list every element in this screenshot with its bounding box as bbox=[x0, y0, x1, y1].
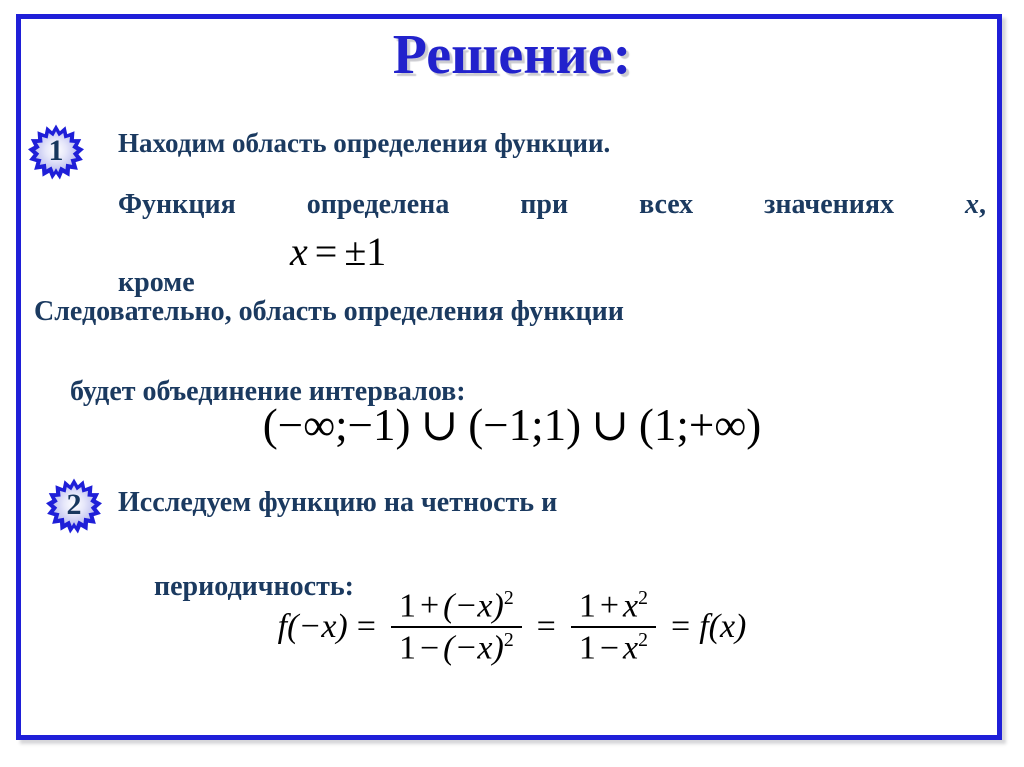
exponent: 2 bbox=[638, 587, 648, 609]
variable-x: x bbox=[623, 587, 638, 624]
step-1-conclusion: Следовательно, область определения функц… bbox=[34, 292, 986, 412]
equals-1: = bbox=[348, 608, 385, 646]
function-argument-lhs: (−x) bbox=[287, 608, 348, 646]
step-1-paragraph-text: Функция определена при всех значениях bbox=[118, 189, 894, 220]
group-minus-x: (−x) bbox=[443, 587, 504, 624]
step-1-paragraph: Функция определена при всех значениях x,… bbox=[118, 186, 986, 302]
fraction-2-denominator: 1−x2 bbox=[571, 628, 656, 668]
equals-2: = bbox=[528, 608, 565, 646]
heading-word-4: четность bbox=[421, 487, 534, 518]
formula-rhs: ±1 bbox=[344, 229, 386, 274]
group-minus-x: (−x) bbox=[443, 630, 504, 667]
step-1-heading: Находим область определения функции. bbox=[118, 126, 978, 160]
minus-sign: − bbox=[596, 630, 623, 667]
exponent: 2 bbox=[504, 629, 514, 651]
equals-3: = bbox=[662, 608, 699, 646]
interval-1: (−∞;−1) bbox=[263, 400, 411, 450]
minus-sign: − bbox=[416, 630, 443, 667]
formula-domain-intervals: (−∞;−1)∪(−1;1)∪(1;+∞) bbox=[0, 398, 1024, 451]
num-one: 1 bbox=[579, 587, 596, 624]
num-one: 1 bbox=[399, 630, 416, 667]
step-1-paragraph-line-1: Функция определена при всех значениях x, bbox=[118, 186, 986, 262]
heading-word-1: Исследуем bbox=[118, 487, 251, 518]
formula-row: f(−x) = 1+(−x)2 1−(−x)2 = 1+x2 1−x2 = f(… bbox=[278, 586, 747, 669]
step-badge-1-number: 1 bbox=[28, 124, 84, 180]
slide-canvas: Решение: 1 Находим область определения ф… bbox=[0, 0, 1024, 767]
interval-3: (1;+∞) bbox=[639, 400, 761, 450]
variable-x: x bbox=[965, 189, 979, 220]
num-one: 1 bbox=[579, 630, 596, 667]
page-title: Решение: bbox=[0, 26, 1024, 85]
heading-word-3: на bbox=[384, 487, 414, 518]
function-symbol-rhs: f bbox=[699, 608, 708, 646]
step-1-conclusion-line-1: Следовательно, область определения функц… bbox=[34, 292, 986, 372]
plus-sign: + bbox=[596, 587, 623, 624]
exponent: 2 bbox=[638, 629, 648, 651]
comma: , bbox=[979, 189, 986, 220]
formula-relation: = bbox=[308, 229, 345, 274]
step-badge-2-number: 2 bbox=[46, 478, 102, 534]
heading-word-5: и bbox=[541, 487, 557, 518]
formula-x-equals-plus-minus-1: x=±1 bbox=[290, 228, 386, 275]
step-2-heading-line-1: Исследуем функцию на четность и bbox=[118, 482, 986, 566]
heading-word-2: функцию bbox=[258, 487, 377, 518]
fraction-2: 1+x2 1−x2 bbox=[571, 586, 656, 669]
fraction-2-numerator: 1+x2 bbox=[571, 586, 656, 626]
fraction-1-denominator: 1−(−x)2 bbox=[391, 628, 522, 668]
plus-sign: + bbox=[416, 587, 443, 624]
step-badge-1: 1 bbox=[28, 124, 84, 180]
interval-2: (−1;1) bbox=[468, 400, 581, 450]
union-symbol-2: ∪ bbox=[581, 400, 639, 450]
fraction-1: 1+(−x)2 1−(−x)2 bbox=[391, 586, 522, 669]
function-argument-rhs: (x) bbox=[709, 608, 747, 646]
num-one: 1 bbox=[399, 587, 416, 624]
function-symbol-lhs: f bbox=[278, 608, 287, 646]
exponent: 2 bbox=[504, 587, 514, 609]
variable-x: x bbox=[623, 630, 638, 667]
step-badge-2: 2 bbox=[46, 478, 102, 534]
fraction-1-numerator: 1+(−x)2 bbox=[391, 586, 522, 626]
union-symbol-1: ∪ bbox=[411, 400, 469, 450]
formula-even-function-check: f(−x) = 1+(−x)2 1−(−x)2 = 1+x2 1−x2 = f(… bbox=[0, 586, 1024, 669]
formula-lhs: x bbox=[290, 229, 308, 274]
